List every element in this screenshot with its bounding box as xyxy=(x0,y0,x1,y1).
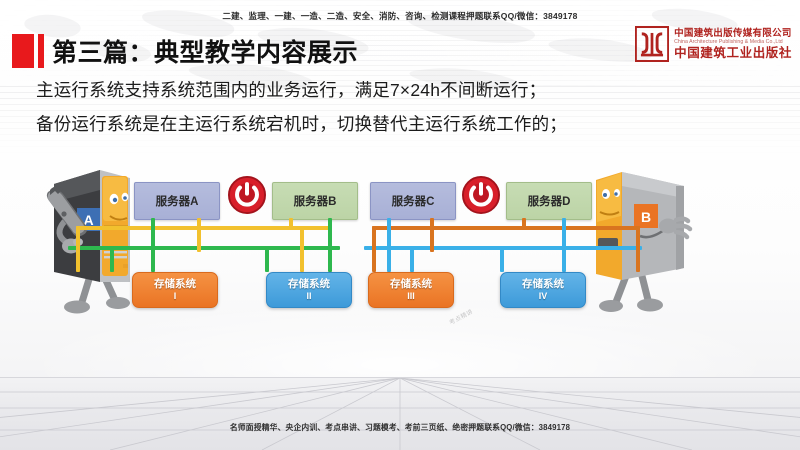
stub-store4-blue xyxy=(500,246,504,272)
storage-node-3-roman: III xyxy=(407,291,415,302)
storage-node-1-roman: I xyxy=(174,291,177,302)
stub-store2-green xyxy=(265,246,269,272)
drop-b-green xyxy=(328,218,332,272)
publisher-logo: 中国建筑出版传媒有限公司 China Architecture Publishi… xyxy=(635,26,792,62)
stub-store1-yellow xyxy=(76,226,80,272)
floor-stage xyxy=(0,378,800,450)
storage-node-1-label: 存储系统 xyxy=(154,278,196,291)
drop-d-orange xyxy=(522,218,526,230)
storage-node-4-roman: IV xyxy=(539,291,548,302)
server-node-a-label: 服务器A xyxy=(156,193,199,209)
server-node-d[interactable]: 服务器D xyxy=(506,182,592,220)
drop-a-green xyxy=(151,218,155,272)
publisher-logo-text: 中国建筑出版传媒有限公司 China Architecture Publishi… xyxy=(674,29,792,60)
server-node-b-label: 服务器B xyxy=(294,193,337,209)
storage-node-2[interactable]: 存储系统 II xyxy=(266,272,352,308)
body-copy: 主运行系统支持系统范围内的业务运行，满足7×24h不间断运行； 备份运行系统是在… xyxy=(36,82,736,149)
floor-perspective-grid xyxy=(0,378,800,450)
stub-store2-yellow xyxy=(300,226,304,272)
server-node-d-label: 服务器D xyxy=(528,193,571,209)
drop-b-yellow xyxy=(289,218,293,230)
drop-c-orange xyxy=(430,218,434,252)
body-line-2: 备份运行系统是在主运行系统宕机时，切换替代主运行系统工作的； xyxy=(36,116,736,134)
title-accent-bar-thin xyxy=(38,34,44,68)
server-node-c-label: 服务器C xyxy=(392,193,435,209)
publisher-emblem-icon xyxy=(635,26,669,62)
drop-a-yellow xyxy=(197,218,201,252)
bus-right-primary xyxy=(372,226,640,230)
storage-node-3-label: 存储系统 xyxy=(390,278,432,291)
power-icon[interactable] xyxy=(462,176,500,214)
storage-node-1[interactable]: 存储系统 I xyxy=(132,272,218,308)
stub-store3-blue xyxy=(410,246,414,272)
storage-node-2-roman: II xyxy=(306,291,311,302)
server-node-c[interactable]: 服务器C xyxy=(370,182,456,220)
slide-canvas: 二建、监理、一建、一造、二造、安全、消防、咨询、检测课程押题联系QQ/微信：38… xyxy=(0,0,800,450)
publisher-company-cn: 中国建筑出版传媒有限公司 xyxy=(674,29,792,39)
bus-left-primary xyxy=(76,226,332,230)
storage-node-4[interactable]: 存储系统 IV xyxy=(500,272,586,308)
computer-mascot-b: B xyxy=(592,164,714,316)
stub-store3-orange xyxy=(372,226,376,272)
stub-store1-green xyxy=(110,246,114,272)
diagram-watermark: 考点精讲 xyxy=(447,307,474,327)
storage-node-2-label: 存储系统 xyxy=(288,278,330,291)
server-node-b[interactable]: 服务器B xyxy=(272,182,358,220)
storage-node-3[interactable]: 存储系统 III xyxy=(368,272,454,308)
drop-c-blue xyxy=(387,218,391,272)
stub-store4-orange xyxy=(636,226,640,272)
drop-d-blue xyxy=(562,218,566,272)
power-icon[interactable] xyxy=(228,176,266,214)
body-line-1: 主运行系统支持系统范围内的业务运行，满足7×24h不间断运行； xyxy=(36,82,736,100)
architecture-diagram: A xyxy=(0,160,800,320)
storage-node-4-label: 存储系统 xyxy=(522,278,564,291)
publisher-imprint-cn: 中国建筑工业出版社 xyxy=(674,46,792,59)
top-promo-banner: 二建、监理、一建、一造、二造、安全、消防、咨询、检测课程押题联系QQ/微信：38… xyxy=(0,10,800,22)
server-node-a[interactable]: 服务器A xyxy=(134,182,220,220)
page-title: 第三篇：典型教学内容展示 xyxy=(52,33,358,69)
svg-text:B: B xyxy=(641,209,651,225)
title-accent-bar-wide xyxy=(12,34,34,68)
computer-mascot-a: A xyxy=(30,164,142,316)
bottom-promo-banner: 名师面授精华、央企内训、考点串讲、习题模考、考前三页纸、绝密押题联系QQ/微信：… xyxy=(0,422,800,433)
